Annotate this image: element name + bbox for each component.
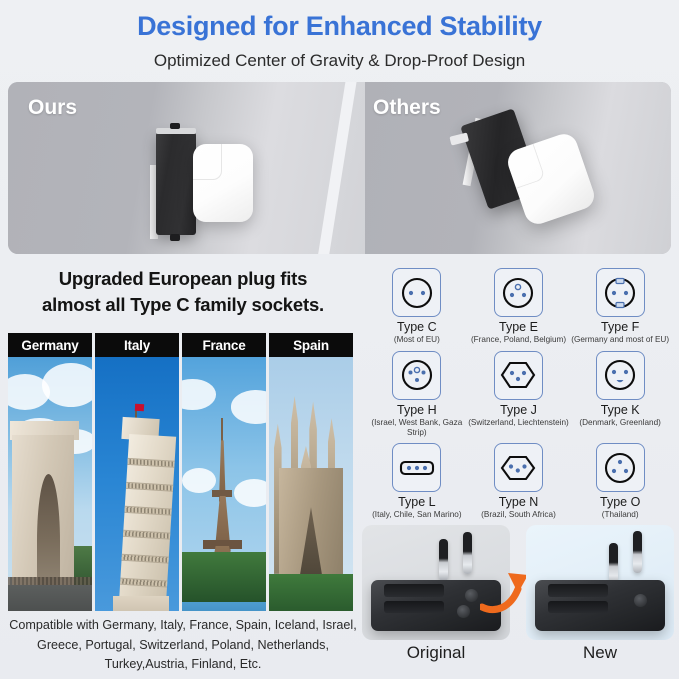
country-photo-germany: Germany — [8, 333, 92, 611]
photo-caption-germany: Germany — [8, 333, 92, 357]
socket-regions: (Italy, Chile, San Marino) — [366, 510, 468, 519]
country-photo-italy: Italy — [95, 333, 179, 611]
socket-name: Type J — [468, 403, 570, 417]
socket-icon-type-o — [596, 443, 645, 492]
adapter-slot — [384, 601, 444, 612]
compatibility-text: Compatible with Germany, Italy, France, … — [8, 616, 358, 675]
plug-heading-line1: Upgraded European plug fits — [8, 266, 358, 292]
socket-icon-type-h — [392, 351, 441, 400]
socket-hole — [457, 605, 470, 618]
socket-name: Type O — [569, 495, 671, 509]
adapter-body — [535, 580, 665, 631]
socket-type-h: Type H (Israel, West Bank, Gaza Strip) — [366, 351, 468, 437]
page-title: Designed for Enhanced Stability — [0, 10, 679, 44]
page-subtitle: Optimized Center of Gravity & Drop-Proof… — [0, 50, 679, 72]
plug-prong — [609, 543, 618, 585]
socket-icon-type-e — [494, 268, 543, 317]
tower-base — [113, 596, 168, 611]
socket-name: Type C — [366, 320, 468, 334]
sky — [269, 357, 353, 611]
socket-icon-type-k — [596, 351, 645, 400]
trees — [269, 574, 353, 611]
sky — [95, 357, 179, 611]
plug-prong — [463, 532, 472, 574]
ground — [8, 585, 92, 611]
adapter-slot — [548, 584, 608, 597]
socket-icon-type-n — [494, 443, 543, 492]
socket-type-n: Type N (Brazil, South Africa) — [468, 443, 570, 520]
adapter-foot-ours — [170, 234, 180, 241]
new-label: New — [526, 643, 674, 663]
socket-name: Type E — [468, 320, 570, 334]
plug-prong — [439, 539, 448, 581]
adapter-slot — [384, 584, 444, 597]
socket-regions: (Denmark, Greenland) — [569, 418, 671, 427]
trees — [182, 552, 266, 602]
plug-heading-line2: almost all Type C family sockets. — [8, 292, 358, 318]
plug-heading: Upgraded European plug fits almost all T… — [8, 266, 358, 317]
label-ours: Ours — [28, 96, 77, 120]
socket-regions: (Switzerland, Liechtenstein) — [468, 418, 570, 427]
country-photo-france: France — [182, 333, 266, 611]
socket-name: Type K — [569, 403, 671, 417]
tower-antenna — [221, 418, 223, 443]
socket-type-c: Type C (Most of EU) — [366, 268, 468, 345]
socket-regions: (Israel, West Bank, Gaza Strip) — [366, 418, 468, 437]
socket-name: Type L — [366, 495, 468, 509]
new-plug-image — [526, 525, 674, 640]
header: Designed for Enhanced Stability Optimize… — [0, 0, 679, 72]
tower-body — [117, 434, 176, 611]
socket-regions: (Brazil, South Africa) — [468, 510, 570, 519]
comparison-banner: Ours Others — [8, 82, 671, 254]
socket-regions: (France, Poland, Belgium) — [468, 335, 570, 344]
socket-regions: (Most of EU) — [366, 335, 468, 344]
river — [182, 602, 266, 611]
sky — [182, 357, 266, 611]
plug-prong — [633, 531, 642, 573]
socket-icon-type-f — [596, 268, 645, 317]
socket-type-f: Type F (Germany and most of EU) — [569, 268, 671, 345]
socket-name: Type F — [569, 320, 671, 334]
socket-type-j: Type J (Switzerland, Liechtenstein) — [468, 351, 570, 437]
socket-type-k: Type K (Denmark, Greenland) — [569, 351, 671, 437]
socket-type-o: Type O (Thailand) — [569, 443, 671, 520]
socket-hole — [465, 589, 478, 602]
country-photo-spain: Spain — [269, 333, 353, 611]
photo-caption-italy: Italy — [95, 333, 179, 357]
socket-icon-type-c — [392, 268, 441, 317]
socket-regions: (Germany and most of EU) — [569, 335, 671, 344]
photo-caption-france: France — [182, 333, 266, 357]
socket-regions: (Thailand) — [569, 510, 671, 519]
socket-name: Type H — [366, 403, 468, 417]
socket-type-e: Type E (France, Poland, Belgium) — [468, 268, 570, 345]
flag — [135, 404, 144, 412]
product-infographic: Designed for Enhanced Stability Optimize… — [0, 0, 679, 679]
socket-icon-type-l — [392, 443, 441, 492]
sky — [8, 357, 92, 611]
plug-upgrade-comparison: Original New — [362, 525, 674, 675]
adapter-slot — [548, 601, 608, 612]
white-charger-ours — [193, 144, 253, 222]
photo-caption-spain: Spain — [269, 333, 353, 357]
black-adapter-ours — [156, 132, 196, 235]
socket-hole — [634, 594, 647, 607]
label-others: Others — [373, 96, 441, 120]
country-photo-strip: Germany Italy — [8, 333, 353, 611]
socket-name: Type N — [468, 495, 570, 509]
socket-icon-type-j — [494, 351, 543, 400]
original-label: Original — [362, 643, 510, 663]
socket-type-grid: Type C (Most of EU) Type E (France, Pola… — [366, 268, 671, 520]
socket-type-l: Type L (Italy, Chile, San Marino) — [366, 443, 468, 520]
